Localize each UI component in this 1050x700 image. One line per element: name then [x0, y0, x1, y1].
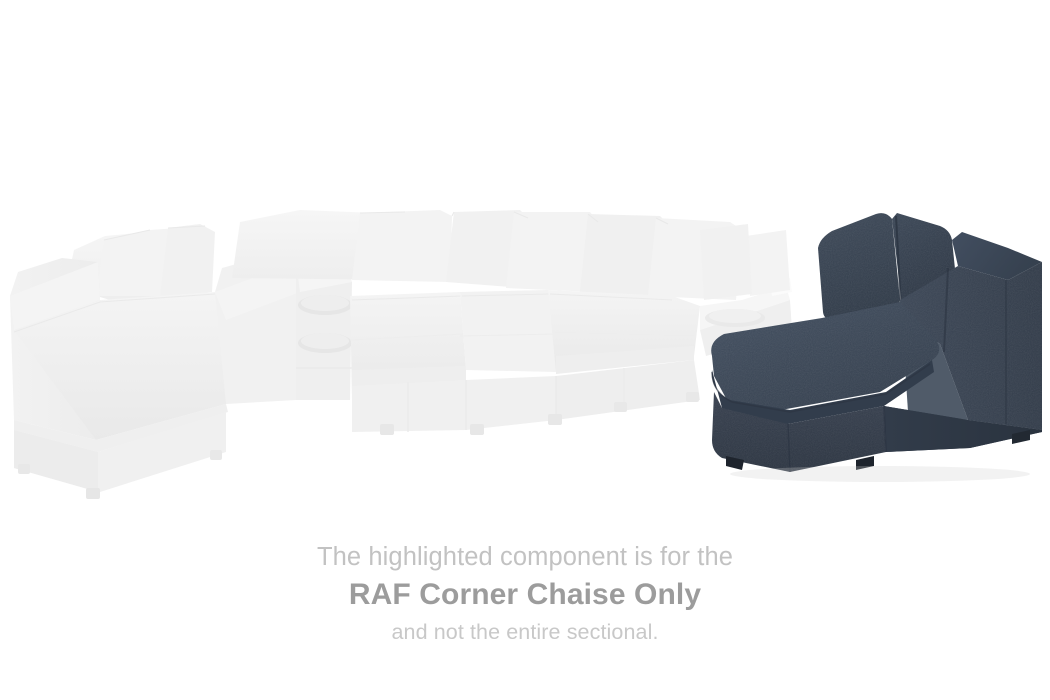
caption-block: The highlighted component is for the RAF… [0, 540, 1050, 648]
ghosted-sectional-group [10, 210, 792, 499]
product-image-canvas: The highlighted component is for the RAF… [0, 0, 1050, 700]
sectional-product-illustration [0, 0, 1050, 520]
caption-line-2-component-name: RAF Corner Chaise Only [0, 574, 1050, 616]
caption-line-3: and not the entire sectional. [0, 616, 1050, 648]
caption-line-1: The highlighted component is for the [0, 540, 1050, 574]
chaise-ground-shadow [730, 466, 1030, 482]
